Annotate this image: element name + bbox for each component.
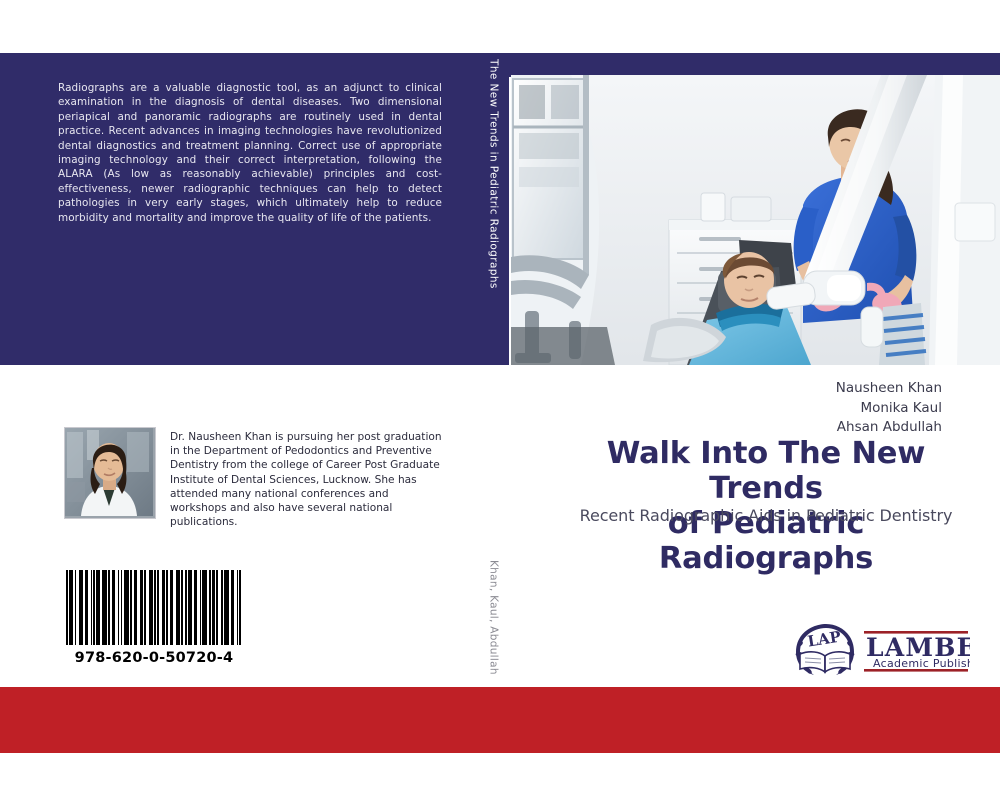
- bottom-red-band: [0, 687, 1000, 753]
- spine-authors: Khan, Kaul, Abdullah: [478, 560, 509, 690]
- front-cover-authors: Nausheen Khan Monika Kaul Ahsan Abdullah: [522, 379, 942, 438]
- author-portrait: [64, 427, 156, 519]
- back-cover-blurb: Radiographs are a valuable diagnostic to…: [58, 81, 442, 225]
- isbn-number: 978-620-0-50720-4: [64, 650, 244, 666]
- book-cover: Radiographs are a valuable diagnostic to…: [0, 0, 1000, 800]
- laurel-wreath-icon: LAP: [795, 624, 854, 675]
- barcode-bars: [64, 570, 244, 645]
- publisher-logo: LAP LAMBERT: [788, 622, 970, 678]
- spine-title: The New Trends in Pediatric Radiographs: [478, 53, 509, 365]
- svg-text:Academic Publishing: Academic Publishing: [873, 657, 970, 670]
- isbn-barcode: 978-620-0-50720-4: [64, 570, 244, 676]
- front-cover-subtitle: Recent Radiographic Aids in Pediatric De…: [560, 506, 972, 525]
- author-bio: Dr. Nausheen Khan is pursuing her post g…: [170, 430, 442, 529]
- spine-title-text: The New Trends in Pediatric Radiographs: [488, 53, 500, 289]
- cover-photo-dental-clinic: [511, 75, 1000, 365]
- spine-authors-text: Khan, Kaul, Abdullah: [488, 560, 500, 675]
- svg-text:LAP: LAP: [806, 628, 842, 651]
